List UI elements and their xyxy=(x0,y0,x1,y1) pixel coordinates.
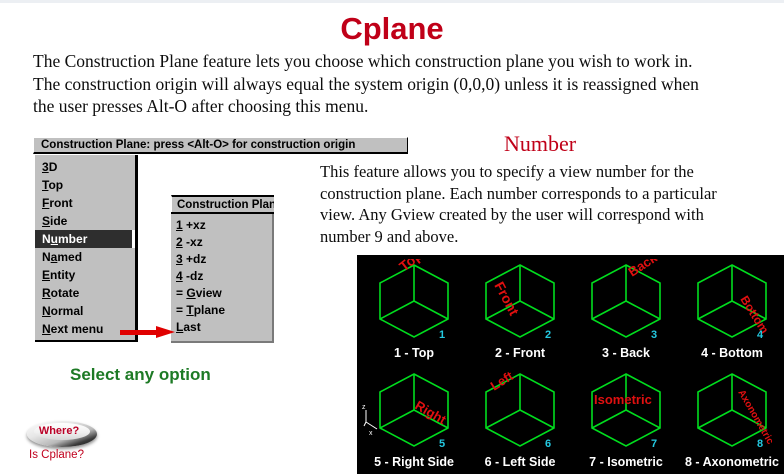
cube-face-label: Isometric xyxy=(594,392,652,407)
menu-item-3d[interactable]: 3D xyxy=(35,158,135,176)
submenu-item-last[interactable]: Last xyxy=(171,319,272,336)
cube-caption-6: 6 - Left Side xyxy=(467,455,573,469)
menu-item-normal[interactable]: Normal xyxy=(35,302,135,320)
submenu-item-gview[interactable]: = Gview xyxy=(171,285,272,302)
view-cube-1: Top11 - Top xyxy=(361,257,467,361)
menu-item-named[interactable]: Named xyxy=(35,248,135,266)
arrow-shaft xyxy=(120,330,158,335)
number-line-3: view. Any Gview created by the user will… xyxy=(320,204,782,226)
intro-line-3: the user presses Alt-O after choosing th… xyxy=(33,95,755,118)
cube-caption-2: 2 - Front xyxy=(467,346,573,360)
view-cube-8: Axonometric88 - Axonometric xyxy=(679,366,784,470)
cube-number-1: 1 xyxy=(439,329,445,341)
view-cube-7: Isometric77 - Isometric xyxy=(573,366,679,470)
page-root: Cplane The Construction Plane feature le… xyxy=(0,0,784,471)
menu-item-rotate[interactable]: Rotate xyxy=(35,284,135,302)
cube-number-8: 8 xyxy=(757,438,763,450)
view-cube-5: Right55 - Right Side xyxy=(361,366,467,470)
menu-item-top[interactable]: Top xyxy=(35,176,135,194)
view-cube-4: Bottom44 - Bottom xyxy=(679,257,784,361)
page-title: Cplane xyxy=(0,11,784,47)
intro-line-2: The construction origin will always equa… xyxy=(33,73,755,96)
intro-paragraph: The Construction Plane feature lets you … xyxy=(33,50,755,118)
menu-titlebar: Construction Plane: press <Alt-O> for co… xyxy=(33,137,408,154)
cube-number-2: 2 xyxy=(545,329,551,341)
number-line-1: This feature allows you to specify a vie… xyxy=(320,161,782,183)
cplane-menu: 3D Top Front Side Number Named Entity Ro… xyxy=(35,155,138,342)
arrow-head xyxy=(156,326,175,338)
where-badge-label: Where? xyxy=(24,425,94,437)
view-cube-2: Front22 - Front xyxy=(467,257,573,361)
submenu-titlebar: Construction Plane: xyxy=(171,195,274,212)
menu-item-side[interactable]: Side xyxy=(35,212,135,230)
view-cube-3: Back33 - Back xyxy=(573,257,679,361)
cube-number-6: 6 xyxy=(545,438,551,450)
view-number-diagram-panel: z x Top11 - TopFront22 - FrontBack33 - B… xyxy=(357,255,784,474)
number-heading: Number xyxy=(405,131,675,157)
where-badge[interactable]: Where? Is Cplane? xyxy=(24,421,144,471)
cube-face-label: Front xyxy=(491,279,522,318)
submenu-item-mxz[interactable]: 2 -xz xyxy=(171,234,272,251)
cube-caption-4: 4 - Bottom xyxy=(679,346,784,360)
number-line-2: construction plane. Each number correspo… xyxy=(320,183,782,205)
red-arrow-icon xyxy=(120,326,175,339)
menu-item-entity[interactable]: Entity xyxy=(35,266,135,284)
cube-number-5: 5 xyxy=(439,438,445,450)
menu-item-front[interactable]: Front xyxy=(35,194,135,212)
cube-caption-8: 8 - Axonometric xyxy=(679,455,784,469)
cube-caption-5: 5 - Right Side xyxy=(361,455,467,469)
cube-face-label: Right xyxy=(413,398,450,428)
cube-number-4: 4 xyxy=(757,329,763,341)
cube-number-3: 3 xyxy=(651,329,657,341)
number-paragraph: This feature allows you to specify a vie… xyxy=(320,161,782,247)
select-any-option-label: Select any option xyxy=(70,365,211,385)
submenu-item-pxz[interactable]: 1 +xz xyxy=(171,217,272,234)
submenu-item-tplane[interactable]: = Tplane xyxy=(171,302,272,319)
cube-caption-7: 7 - Isometric xyxy=(573,455,679,469)
submenu-item-pdz[interactable]: 3 +dz xyxy=(171,251,272,268)
cplane-submenu: 1 +xz 2 -xz 3 +dz 4 -dz = Gview = Tplane… xyxy=(171,214,274,343)
cube-number-7: 7 xyxy=(651,438,657,450)
submenu-item-mdz[interactable]: 4 -dz xyxy=(171,268,272,285)
menu-item-number[interactable]: Number xyxy=(35,230,135,248)
number-line-4: number 9 and above. xyxy=(320,226,782,248)
where-badge-sublabel: Is Cplane? xyxy=(29,449,84,461)
intro-line-1: The Construction Plane feature lets you … xyxy=(33,50,755,73)
cube-face-label: Back xyxy=(625,259,660,280)
cube-caption-3: 3 - Back xyxy=(573,346,679,360)
cube-caption-1: 1 - Top xyxy=(361,346,467,360)
view-cube-6: Left66 - Left Side xyxy=(467,366,573,470)
